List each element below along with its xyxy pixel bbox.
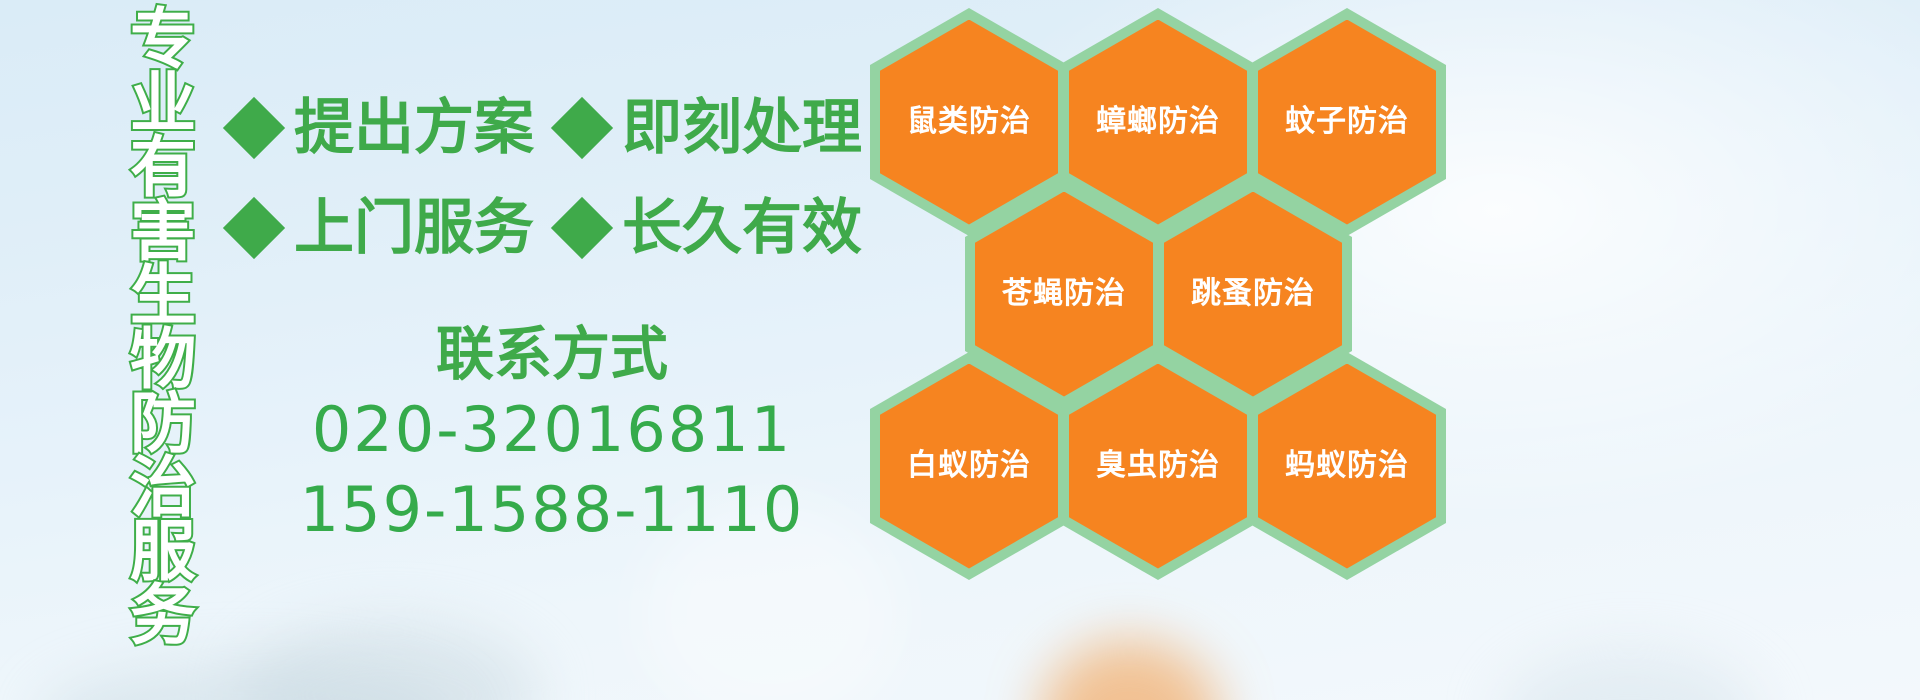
hexagon-inner: 苍蝇防治 [975, 192, 1153, 397]
hexagon-inner: 蚊子防治 [1258, 20, 1436, 225]
vertical-title-char: 务 [130, 584, 196, 648]
background-blur-blob [1500, 650, 1760, 700]
service-label: 蚂蚁防治 [1285, 449, 1409, 483]
vertical-title-char: 治 [130, 456, 196, 520]
feature-item: 长久有效 [560, 198, 862, 258]
service-label: 白蚁防治 [907, 449, 1031, 483]
service-honeycomb: 鼠类防治 蟑螂防治 蚊子防治 苍蝇防治 跳蚤防治 白蚁防治 [856, 0, 1496, 580]
contact-phone-mobile[interactable]: 159-1588-1110 [232, 470, 872, 550]
background-blur-blob [40, 660, 460, 700]
hexagon-inner: 白蚁防治 [880, 364, 1058, 569]
hexagon-inner: 臭虫防治 [1069, 364, 1247, 569]
feature-label: 长久有效 [622, 198, 862, 258]
hexagon-inner: 蟑螂防治 [1069, 20, 1247, 225]
diamond-bullet-icon [551, 197, 613, 259]
feature-item: 即刻处理 [560, 98, 862, 158]
feature-label: 上门服务 [294, 198, 534, 258]
vertical-title-char: 害 [130, 200, 196, 264]
contact-title: 联系方式 [232, 318, 872, 390]
service-label: 跳蚤防治 [1191, 277, 1315, 311]
vertical-title-char: 有 [130, 136, 196, 200]
vertical-title-char: 服 [130, 520, 196, 584]
hexagon-inner: 蚂蚁防治 [1258, 364, 1436, 569]
background-blur-blob-orange [1040, 640, 1220, 700]
feature-item: 上门服务 [232, 198, 534, 258]
service-label: 苍蝇防治 [1002, 277, 1126, 311]
vertical-title-char: 专 [130, 8, 196, 72]
feature-label: 即刻处理 [622, 98, 862, 158]
feature-item: 提出方案 [232, 98, 534, 158]
contact-block: 联系方式 020-32016811 159-1588-1110 [232, 318, 872, 550]
feature-row: 提出方案 即刻处理 [232, 78, 872, 178]
vertical-title-char: 生 [130, 264, 196, 328]
service-label: 臭虫防治 [1096, 449, 1220, 483]
vertical-company-title: 专 业 有 害 生 物 防 治 服 务 [104, 8, 222, 588]
vertical-title-char: 业 [130, 72, 196, 136]
feature-row: 上门服务 长久有效 [232, 178, 872, 278]
background-blur-blob [240, 620, 540, 700]
service-label: 蚊子防治 [1285, 105, 1409, 139]
hexagon-inner: 鼠类防治 [880, 20, 1058, 225]
diamond-bullet-icon [223, 97, 285, 159]
diamond-bullet-icon [551, 97, 613, 159]
service-label: 蟑螂防治 [1096, 105, 1220, 139]
diamond-bullet-icon [223, 197, 285, 259]
feature-list: 提出方案 即刻处理 上门服务 长久有效 [232, 78, 872, 278]
vertical-title-char: 防 [130, 392, 196, 456]
hexagon-inner: 跳蚤防治 [1164, 192, 1342, 397]
service-label: 鼠类防治 [907, 105, 1031, 139]
vertical-title-char: 物 [130, 328, 196, 392]
pest-control-banner: 专 业 有 害 生 物 防 治 服 务 提出方案 即刻处理 上门服务 [0, 0, 1920, 700]
contact-phone-landline[interactable]: 020-32016811 [232, 390, 872, 470]
feature-label: 提出方案 [294, 98, 534, 158]
